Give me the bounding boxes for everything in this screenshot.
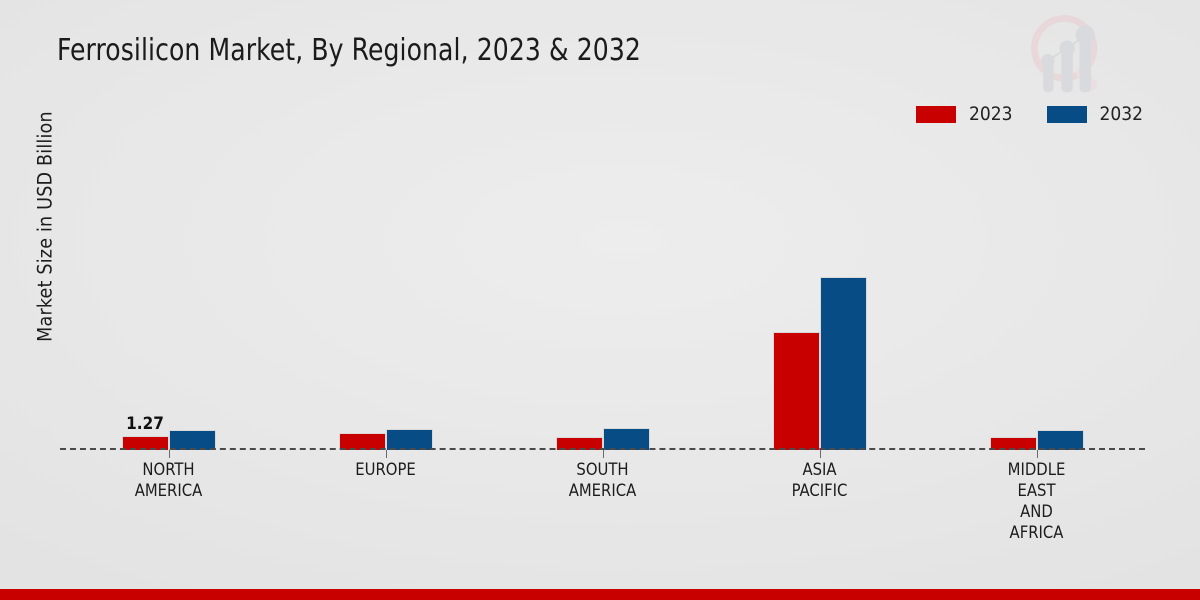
bar-group-europe [277, 130, 494, 450]
x-label-line: AMERICA [494, 480, 711, 501]
x-axis-label-middle-east-and-africa: MIDDLE EAST AND AFRICA [928, 459, 1145, 543]
x-axis-label-europe: EUROPE [277, 459, 494, 543]
x-label-line: AMERICA [60, 480, 277, 501]
legend-item-2032[interactable]: 2032 [1047, 103, 1144, 125]
bar-group-asia-pacific [711, 130, 928, 450]
legend-label: 2032 [1100, 103, 1144, 125]
x-axis-tick [820, 450, 821, 458]
x-axis-tick [169, 450, 170, 458]
magnifier-bar-chart-logo-icon [1020, 6, 1116, 102]
x-axis-tick [603, 450, 604, 458]
x-label-line: ASIA [711, 459, 928, 480]
legend-label: 2023 [969, 103, 1013, 125]
bar-pair [773, 277, 867, 450]
x-label-line: EAST [928, 480, 1145, 501]
bar-pair [556, 428, 650, 450]
x-axis-label-asia-pacific: ASIA PACIFIC [711, 459, 928, 543]
legend-swatch-icon [916, 106, 956, 123]
plot-area: 1.27 [60, 130, 1145, 450]
footer-accent-bar [0, 589, 1200, 600]
x-label-line: NORTH [60, 459, 277, 480]
bar-2032-north-america[interactable] [169, 430, 216, 450]
bar-pair: 1.27 [122, 430, 216, 450]
x-label-line: PACIFIC [711, 480, 928, 501]
legend-item-2023[interactable]: 2023 [916, 103, 1013, 125]
chart-title: Ferrosilicon Market, By Regional, 2023 &… [57, 33, 641, 68]
x-label-line: AFRICA [928, 522, 1145, 543]
bar-2032-middle-east-and-africa[interactable] [1037, 430, 1084, 450]
bar-pair [990, 430, 1084, 450]
x-axis-label-north-america: NORTH AMERICA [60, 459, 277, 543]
legend-swatch-icon [1047, 106, 1087, 123]
bar-2032-asia-pacific[interactable] [820, 277, 867, 450]
bar-group-middle-east-and-africa [928, 130, 1145, 450]
bar-groups: 1.27 [60, 130, 1145, 450]
chart-canvas: Ferrosilicon Market, By Regional, 2023 &… [0, 0, 1200, 600]
x-axis-tick [1037, 450, 1038, 458]
bar-pair [339, 429, 433, 450]
x-label-line: MIDDLE [928, 459, 1145, 480]
x-label-line: SOUTH [494, 459, 711, 480]
bar-group-north-america: 1.27 [60, 130, 277, 450]
x-label-line: EUROPE [277, 459, 494, 480]
bar-2023-asia-pacific[interactable] [773, 332, 820, 450]
x-axis-labels: NORTH AMERICA EUROPE SOUTH AMERICA ASIA … [60, 459, 1145, 543]
bar-2032-south-america[interactable] [603, 428, 650, 450]
bar-2032-europe[interactable] [386, 429, 433, 450]
chart-legend: 2023 2032 [916, 103, 1143, 125]
y-axis-title: Market Size in USD Billion [34, 27, 57, 427]
x-label-line: AND [928, 501, 1145, 522]
bar-value-label: 1.27 [126, 414, 164, 434]
x-axis-baseline [60, 448, 1145, 450]
x-axis-tick [386, 450, 387, 458]
bar-group-south-america [494, 130, 711, 450]
x-axis-label-south-america: SOUTH AMERICA [494, 459, 711, 543]
